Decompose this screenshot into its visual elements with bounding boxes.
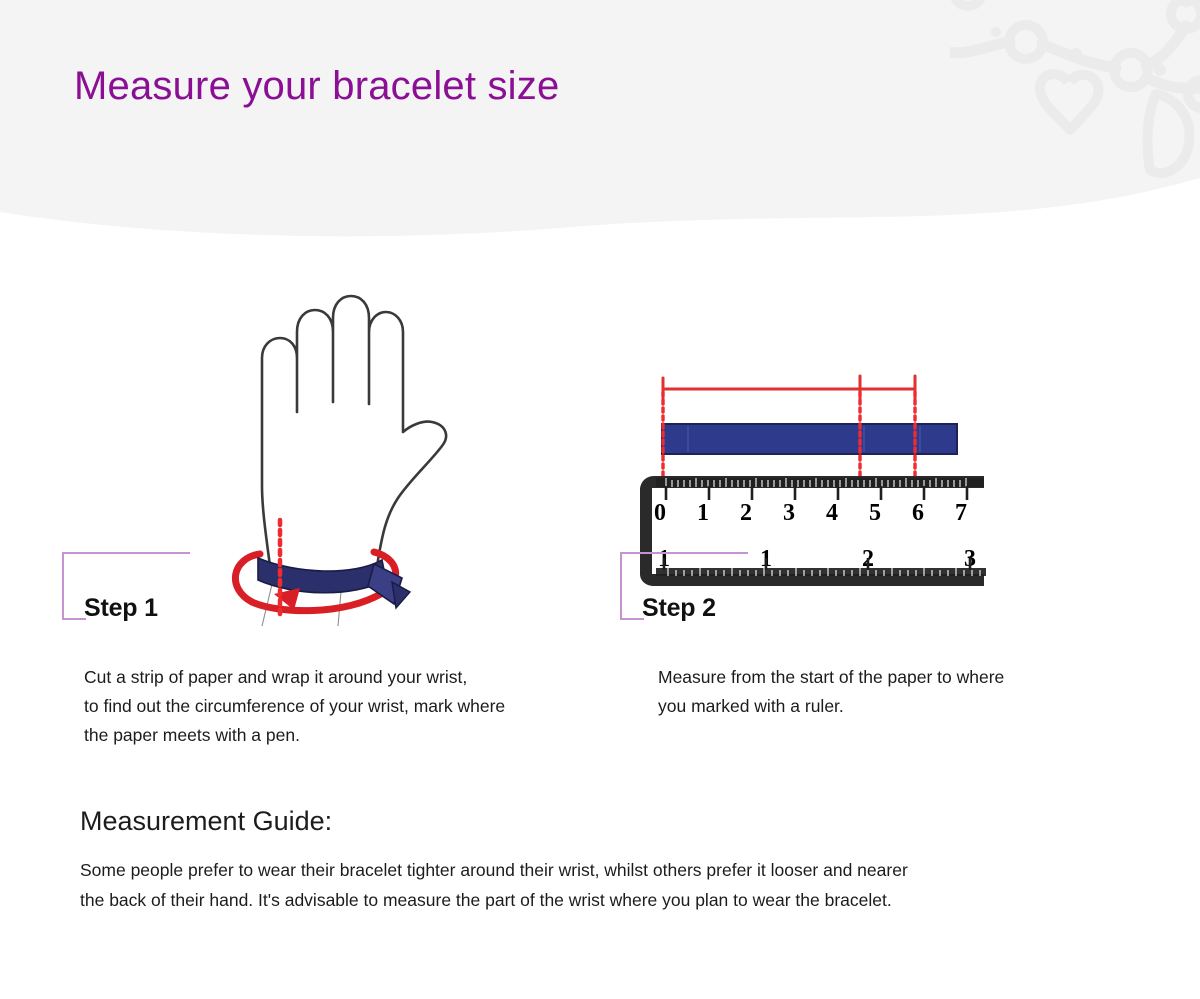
step-2-block: Step 2 (620, 552, 920, 624)
step-2-description: Measure from the start of the paper to w… (658, 663, 1128, 721)
header-band: Measure your bracelet size (0, 0, 1200, 250)
svg-text:4: 4 (826, 500, 838, 526)
measurement-guide-line: Some people prefer to wear their bracele… (80, 855, 1170, 885)
svg-text:5: 5 (869, 500, 881, 526)
step-2-description-line: Measure from the start of the paper to w… (658, 663, 1128, 692)
step-2-description-line: you marked with a ruler. (658, 692, 1128, 721)
svg-text:0: 0 (654, 500, 666, 526)
svg-text:6: 6 (912, 500, 924, 526)
svg-text:1: 1 (697, 500, 709, 526)
svg-text:7: 7 (955, 500, 967, 526)
bracelet-size-guide-page: Measure your bracelet size (0, 0, 1200, 999)
page-title: Measure your bracelet size (74, 64, 559, 109)
step-1-description: Cut a strip of paper and wrap it around … (84, 663, 644, 750)
bracelet-chain-watermark (950, 0, 1200, 197)
svg-text:3: 3 (783, 500, 795, 526)
step-2-label: Step 2 (642, 594, 716, 623)
measurement-guide-heading: Measurement Guide: (80, 806, 332, 837)
step-1-description-line: to find out the circumference of your wr… (84, 692, 644, 721)
step-1-description-line: Cut a strip of paper and wrap it around … (84, 663, 644, 692)
step-1-block: Step 1 (62, 552, 362, 624)
svg-text:2: 2 (740, 500, 752, 526)
step-1-description-line: the paper meets with a pen. (84, 721, 644, 750)
measurement-guide-line: the back of their hand. It's advisable t… (80, 885, 1170, 915)
measurement-guide-body: Some people prefer to wear their bracele… (80, 855, 1170, 915)
step-1-label: Step 1 (84, 594, 158, 623)
